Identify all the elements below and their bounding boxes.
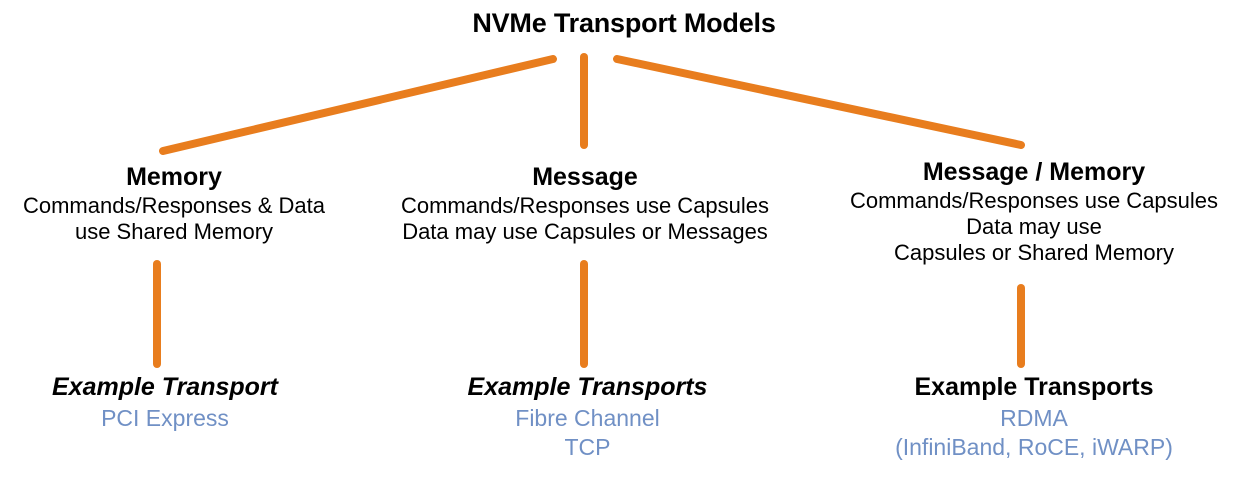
model-node-memory: Memory Commands/Responses & Data use Sha… — [0, 163, 348, 245]
example-heading-message-memory: Example Transports — [820, 372, 1248, 402]
example-list-memory: PCI Express — [0, 404, 330, 433]
model-description-message-memory: Commands/Responses use Capsules Data may… — [820, 188, 1248, 266]
model-description-line: use Shared Memory — [0, 219, 348, 245]
page-title: NVMe Transport Models — [0, 8, 1248, 39]
example-heading-memory: Example Transport — [0, 372, 330, 402]
example-list-message: Fibre Channel TCP — [400, 404, 775, 462]
model-heading-message-memory: Message / Memory — [820, 158, 1248, 187]
connector-root-to-message-memory — [617, 59, 1021, 145]
example-transport-item: (InfiniBand, RoCE, iWARP) — [820, 433, 1248, 462]
model-description-line: Commands/Responses & Data — [0, 193, 348, 219]
nvme-transport-models-diagram: NVMe Transport Models Memory Commands/Re… — [0, 0, 1248, 486]
model-description-line: Data may use — [820, 214, 1248, 240]
model-description-message: Commands/Responses use Capsules Data may… — [380, 193, 790, 245]
connector-root-to-memory — [163, 59, 553, 151]
model-description-line: Capsules or Shared Memory — [820, 240, 1248, 266]
example-node-message: Example Transports Fibre Channel TCP — [400, 372, 775, 462]
model-description-line: Commands/Responses use Capsules — [820, 188, 1248, 214]
model-heading-message: Message — [380, 163, 790, 192]
model-node-message-memory: Message / Memory Commands/Responses use … — [820, 158, 1248, 266]
example-list-message-memory: RDMA (InfiniBand, RoCE, iWARP) — [820, 404, 1248, 462]
model-description-line: Data may use Capsules or Messages — [380, 219, 790, 245]
example-transport-item: TCP — [400, 433, 775, 462]
example-node-memory: Example Transport PCI Express — [0, 372, 330, 433]
model-description-memory: Commands/Responses & Data use Shared Mem… — [0, 193, 348, 245]
example-node-message-memory: Example Transports RDMA (InfiniBand, RoC… — [820, 372, 1248, 462]
model-node-message: Message Commands/Responses use Capsules … — [380, 163, 790, 245]
model-description-line: Commands/Responses use Capsules — [380, 193, 790, 219]
example-heading-message: Example Transports — [400, 372, 775, 402]
example-transport-item: RDMA — [820, 404, 1248, 433]
model-heading-memory: Memory — [0, 163, 348, 192]
example-transport-item: Fibre Channel — [400, 404, 775, 433]
example-transport-item: PCI Express — [0, 404, 330, 433]
